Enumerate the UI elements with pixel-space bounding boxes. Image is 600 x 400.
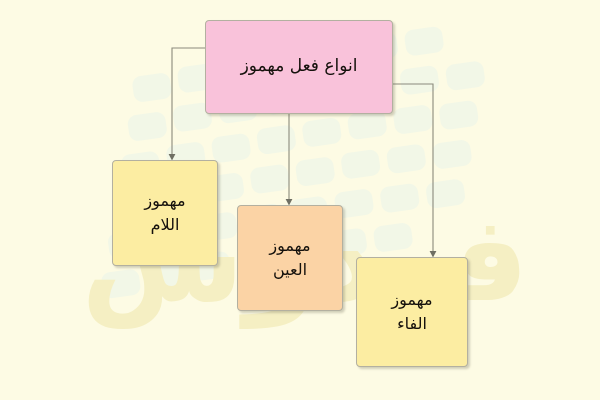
edge-root-to-fa xyxy=(393,84,433,254)
node-lam-label: مهموز اللام xyxy=(138,189,191,237)
node-ain-label: مهموز العين xyxy=(263,234,316,282)
edge-root-to-lam xyxy=(172,48,205,157)
node-anwa-fil-mahmuz[interactable]: انواع فعل مهموز xyxy=(205,20,393,114)
diagram-canvas: فردوس انواع فعل مهموز مهموز اللام مهموز … xyxy=(0,0,600,400)
node-mahmuz-al-fa[interactable]: مهموز الفاء xyxy=(356,257,468,367)
node-root-label: انواع فعل مهموز xyxy=(235,54,364,80)
node-mahmuz-al-lam[interactable]: مهموز اللام xyxy=(112,160,218,266)
node-fa-label: مهموز الفاء xyxy=(385,288,438,336)
node-mahmuz-al-ain[interactable]: مهموز العين xyxy=(237,205,343,311)
